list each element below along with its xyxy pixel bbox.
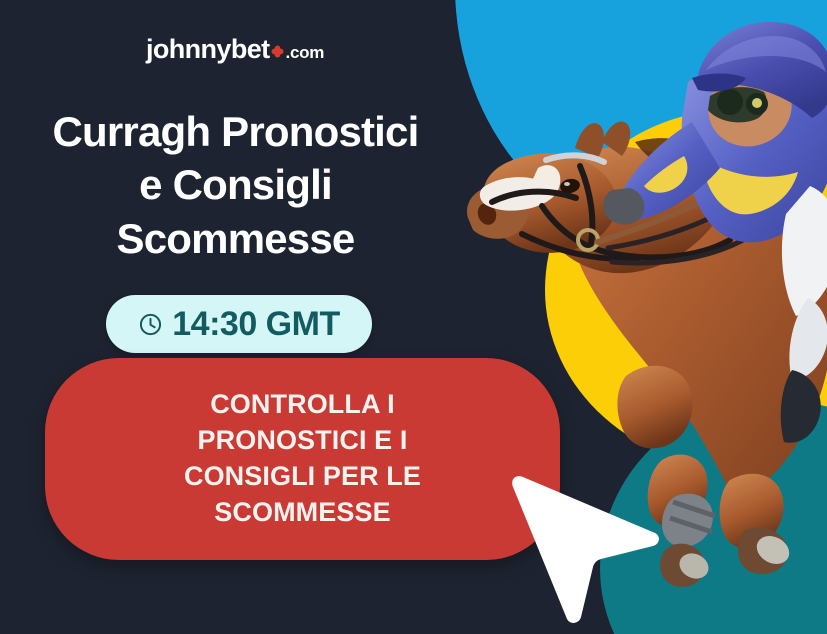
cta-button[interactable]: CONTROLLA I PRONOSTICI E I CONSIGLI PER … [45, 358, 560, 560]
event-time: 14:30 GMT [172, 307, 339, 341]
brand-tld: .com [286, 43, 324, 62]
cta-label: CONTROLLA I PRONOSTICI E I CONSIGLI PER … [148, 387, 457, 531]
promo-banner: johnnybet.com Curragh Pronostici e Consi… [0, 0, 827, 634]
content-column: johnnybet.com Curragh Pronostici e Consi… [0, 0, 470, 634]
page-title: Curragh Pronostici e Consigli Scommesse [8, 105, 463, 265]
status-badge: 14:30 GMT [106, 295, 372, 353]
clock-icon [138, 312, 163, 337]
brand-logo[interactable]: johnnybet.com [0, 36, 470, 63]
brand-name: johnnybet [146, 34, 270, 64]
clover-icon [271, 36, 284, 63]
